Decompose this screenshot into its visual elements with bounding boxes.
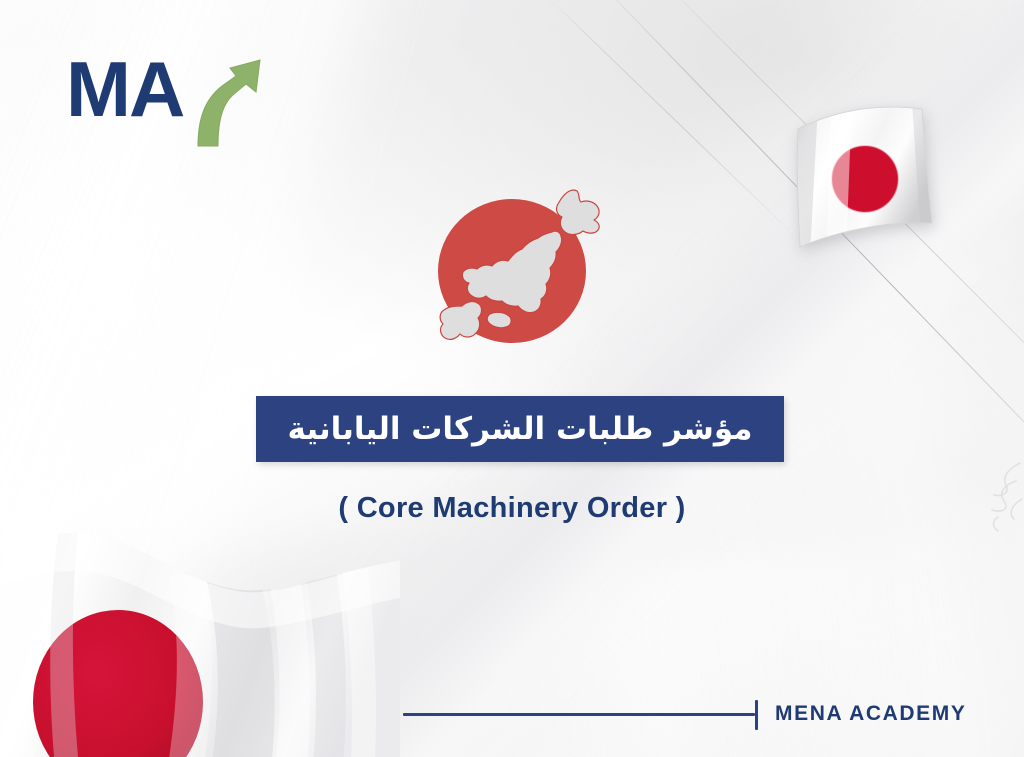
slide-canvas: MA (0, 0, 1024, 757)
logo[interactable]: MA (66, 48, 276, 148)
vertical-tick-icon (755, 700, 758, 730)
horizontal-rule-divider (403, 713, 755, 716)
japan-flag-icon (772, 95, 962, 260)
logo-wordmark: MA (66, 50, 183, 128)
footer: MENA ACADEMY (403, 700, 963, 742)
japan-emblem (420, 168, 620, 363)
footer-brand-label: MENA ACADEMY (775, 702, 966, 726)
page-title-arabic: مؤشر طلبات الشركات اليابانية (288, 411, 753, 447)
growth-arrow-icon (184, 54, 270, 150)
japan-flag-icon (0, 516, 400, 757)
title-bar: مؤشر طلبات الشركات اليابانية (256, 396, 784, 462)
